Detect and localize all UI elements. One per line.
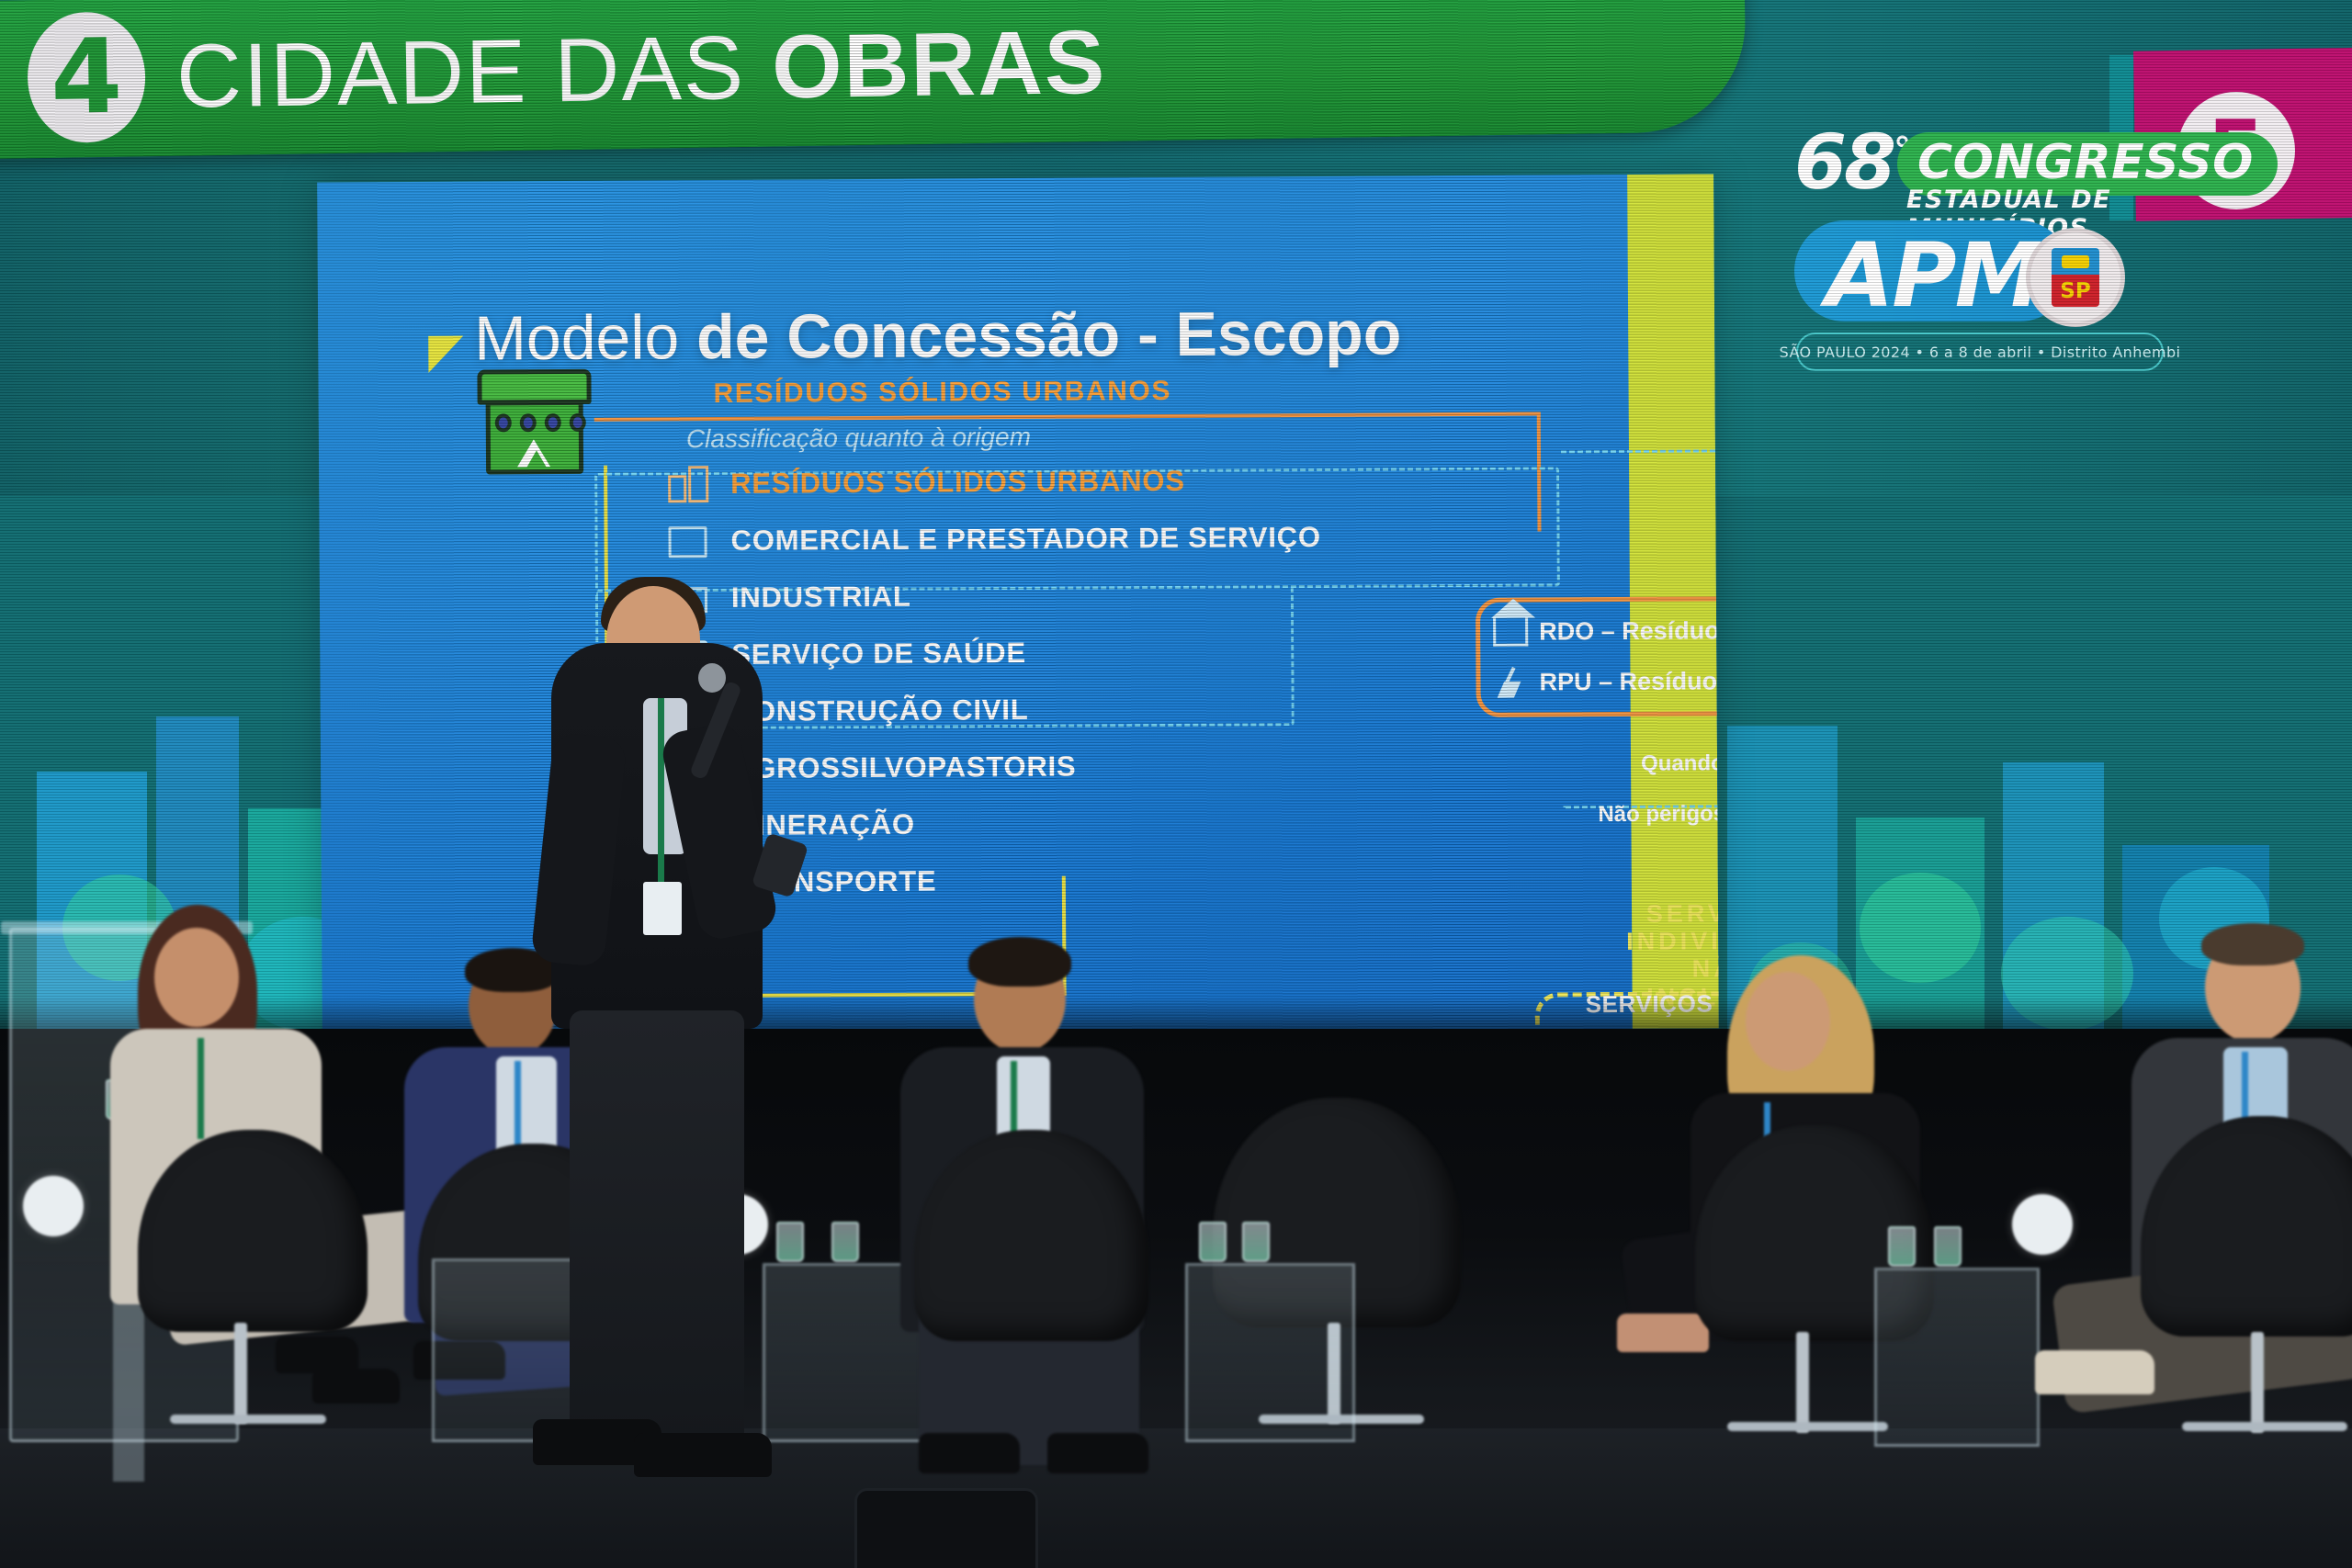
water-glass bbox=[1199, 1222, 1227, 1262]
water-glass bbox=[1934, 1226, 1962, 1267]
green-top-banner: 4 CIDADE DAS OBRAS bbox=[0, 0, 1747, 159]
list-item: INDUSTRIAL bbox=[669, 566, 1385, 627]
rdo-row: RDO – Resíduos Domiciliares bbox=[1493, 615, 1719, 647]
list-item: RESÍDUOS SÓLIDOS URBANOS bbox=[668, 452, 1385, 513]
side-table bbox=[1185, 1263, 1355, 1442]
water-glass bbox=[1888, 1226, 1916, 1267]
slide-title: Modelo de Concessão - Escopo bbox=[474, 297, 1401, 374]
note-quando-equiparaveis: Quando equiparáveis bbox=[1641, 750, 1719, 776]
speaker-badge bbox=[643, 882, 682, 935]
list-item: CONSTRUÇÃO CIVIL bbox=[670, 680, 1386, 741]
category-label: RESÍDUOS SÓLIDOS URBANOS bbox=[730, 465, 1185, 501]
side-table bbox=[1874, 1268, 2040, 1447]
list-item: COMERCIAL E PRESTADOR DE SERVIÇO bbox=[668, 509, 1385, 570]
category-label: INDUSTRIAL bbox=[731, 581, 911, 615]
side-table bbox=[432, 1258, 588, 1442]
sp-seal-icon: SP bbox=[2026, 228, 2125, 327]
yellow-triangle-accent-icon bbox=[428, 336, 463, 373]
bin-lid bbox=[477, 369, 591, 405]
category-label: AGROSSILVOPASTORIS bbox=[732, 750, 1077, 785]
rpu-label: RPU – Resíduos da Limpeza Pública bbox=[1539, 665, 1718, 696]
chair-base bbox=[2182, 1422, 2347, 1431]
presentation-slide: Modelo de Concessão - Escopo RESÍDUOS SÓ… bbox=[317, 174, 1719, 1036]
stage-monitor-speaker bbox=[2012, 1194, 2073, 1255]
stage-front-edge bbox=[0, 1428, 2352, 1568]
house-icon bbox=[1493, 617, 1528, 647]
recycle-symbol-inner bbox=[526, 450, 547, 468]
banner-number-badge: 4 bbox=[27, 11, 146, 143]
rdo-rpu-box: RDO – Resíduos Domiciliares RPU – Resídu… bbox=[1476, 595, 1719, 717]
led-video-wall: 5 4 CIDADE DAS OBRAS 68° CONGRESSO ESTAD… bbox=[0, 0, 2352, 1066]
shop-icon bbox=[668, 523, 710, 559]
sp-shield: SP bbox=[2052, 248, 2099, 307]
trash-bin-icon bbox=[474, 369, 594, 480]
banner-title: CIDADE DAS OBRAS bbox=[175, 9, 1107, 128]
banner-title-light: CIDADE DAS bbox=[175, 16, 773, 126]
foreground-stage-monitor bbox=[854, 1488, 1038, 1568]
water-glass bbox=[1242, 1222, 1270, 1262]
category-label: CONSTRUÇÃO CIVIL bbox=[732, 694, 1029, 728]
shield-bottom: SP bbox=[2052, 275, 2099, 307]
banner-title-bold: OBRAS bbox=[771, 10, 1107, 117]
note-nao-perigosos: Não perigosos e com volume limitado bbox=[1598, 800, 1719, 829]
apm-acronym: APM bbox=[1826, 224, 2041, 327]
buildings-icon bbox=[668, 466, 710, 502]
orange-divider-line bbox=[594, 412, 1541, 422]
list-item: AGROSSILVOPASTORIS bbox=[670, 737, 1386, 798]
slide-title-light: Modelo bbox=[474, 302, 696, 373]
category-label: COMERCIAL E PRESTADOR DE SERVIÇO bbox=[730, 521, 1320, 558]
chair-leg bbox=[1796, 1332, 1809, 1433]
speaker-shoe-right bbox=[634, 1433, 772, 1477]
rpu-row: RPU – Resíduos da Limpeza Pública bbox=[1493, 664, 1718, 698]
slide-title-bold: de Concessão - Escopo bbox=[696, 298, 1402, 372]
edition-value: 68 bbox=[1794, 119, 1894, 207]
bin-openings bbox=[495, 413, 586, 433]
broom-icon bbox=[1493, 667, 1528, 698]
water-glass bbox=[831, 1222, 859, 1262]
stage-monitor-speaker bbox=[23, 1176, 84, 1236]
apm-congress-logo: 68° CONGRESSO ESTADUAL DE MUNICÍPIOS APM… bbox=[1750, 112, 2191, 374]
rdo-label: RDO – Resíduos Domiciliares bbox=[1539, 615, 1719, 646]
category-label: SERVIÇO DE SAÚDE bbox=[731, 637, 1026, 671]
chair-base bbox=[1727, 1422, 1888, 1431]
event-info-line: SÃO PAULO 2024 • 6 a 8 de abril • Distri… bbox=[1796, 333, 2164, 371]
services-title-line2: INDIVISÍVEIS bbox=[1626, 927, 1719, 956]
microphone-head bbox=[698, 663, 726, 693]
chair-leg bbox=[2251, 1332, 2264, 1433]
screenshot-root: 5 4 CIDADE DAS OBRAS 68° CONGRESSO ESTAD… bbox=[0, 0, 2352, 1568]
crown-icon bbox=[2062, 255, 2089, 268]
speaker-legs bbox=[570, 1010, 744, 1442]
services-title-line1: SERVIÇOS bbox=[1626, 899, 1719, 929]
shield-top bbox=[2052, 248, 2099, 275]
speaker-lanyard bbox=[658, 698, 664, 891]
congress-edition-number: 68° bbox=[1794, 119, 1908, 207]
section-heading: RESÍDUOS SÓLIDOS URBANOS bbox=[713, 376, 1171, 410]
chair-leg bbox=[234, 1323, 247, 1424]
chair-base bbox=[170, 1415, 326, 1424]
list-item: SERVIÇO DE SAÚDE bbox=[669, 623, 1385, 684]
section-subtitle: Classificação quanto à origem bbox=[686, 423, 1031, 454]
water-glass bbox=[776, 1222, 804, 1262]
